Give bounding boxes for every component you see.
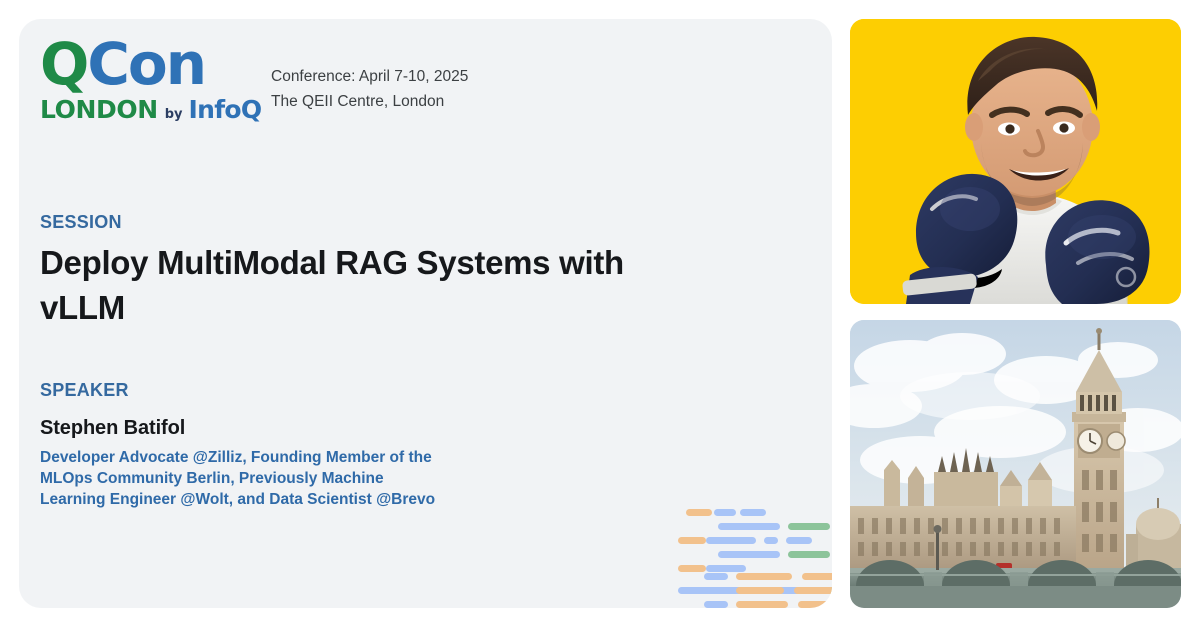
code-line-bar bbox=[736, 601, 788, 608]
code-line-bar bbox=[718, 551, 780, 558]
code-line-bar bbox=[704, 573, 728, 580]
code-line-bar bbox=[714, 509, 736, 516]
logo-text-infoq: InfoQ bbox=[189, 95, 262, 124]
code-line-bar bbox=[678, 537, 706, 544]
code-line-bar bbox=[794, 587, 832, 594]
logo-letter-q: Q bbox=[40, 30, 87, 98]
code-line-bar bbox=[706, 565, 746, 572]
logo-wordmark: QCon bbox=[40, 37, 236, 92]
speaker-name: Stephen Batifol bbox=[40, 417, 185, 440]
logo-subline: LONDON by InfoQ bbox=[40, 95, 236, 124]
code-line-bar bbox=[736, 587, 784, 594]
code-line-bar bbox=[802, 573, 832, 580]
speaker-photo bbox=[850, 19, 1181, 304]
speaker-label: SPEAKER bbox=[40, 380, 129, 401]
conference-venue: The QEII Centre, London bbox=[271, 90, 468, 115]
session-label: SESSION bbox=[40, 212, 122, 233]
conference-dates: Conference: April 7-10, 2025 bbox=[271, 65, 468, 90]
code-line-bar bbox=[736, 573, 792, 580]
code-line-bar bbox=[704, 601, 728, 608]
code-line-bar bbox=[740, 509, 766, 516]
session-card: QCon LONDON by InfoQ Conference: April 7… bbox=[19, 19, 832, 608]
london-photo-illustration bbox=[850, 320, 1181, 608]
code-line-bar bbox=[764, 537, 778, 544]
code-line-bar bbox=[704, 587, 728, 594]
header-row: QCon LONDON by InfoQ Conference: April 7… bbox=[40, 37, 468, 124]
code-line-bar bbox=[788, 523, 830, 530]
speaker-bio: Developer Advocate @Zilliz, Founding Mem… bbox=[40, 447, 452, 511]
conference-meta: Conference: April 7-10, 2025 The QEII Ce… bbox=[271, 37, 468, 115]
session-title: Deploy MultiModal RAG Systems with vLLM bbox=[40, 241, 690, 331]
code-line-bar bbox=[798, 601, 832, 608]
london-photo bbox=[850, 320, 1181, 608]
code-lines-decoration bbox=[674, 495, 832, 608]
speaker-photo-illustration bbox=[850, 19, 1181, 304]
code-line-bar bbox=[678, 565, 706, 572]
promo-card-page: QCon LONDON by InfoQ Conference: April 7… bbox=[0, 0, 1200, 628]
code-line-bar bbox=[686, 509, 712, 516]
qcon-london-logo: QCon LONDON by InfoQ bbox=[40, 37, 236, 124]
logo-text-london: LONDON bbox=[40, 95, 158, 124]
logo-text-con: Con bbox=[87, 30, 205, 98]
logo-text-by: by bbox=[165, 107, 183, 122]
code-line-bar bbox=[718, 523, 780, 530]
code-line-bar bbox=[706, 537, 756, 544]
code-line-bar bbox=[788, 551, 830, 558]
code-line-bar bbox=[786, 537, 812, 544]
